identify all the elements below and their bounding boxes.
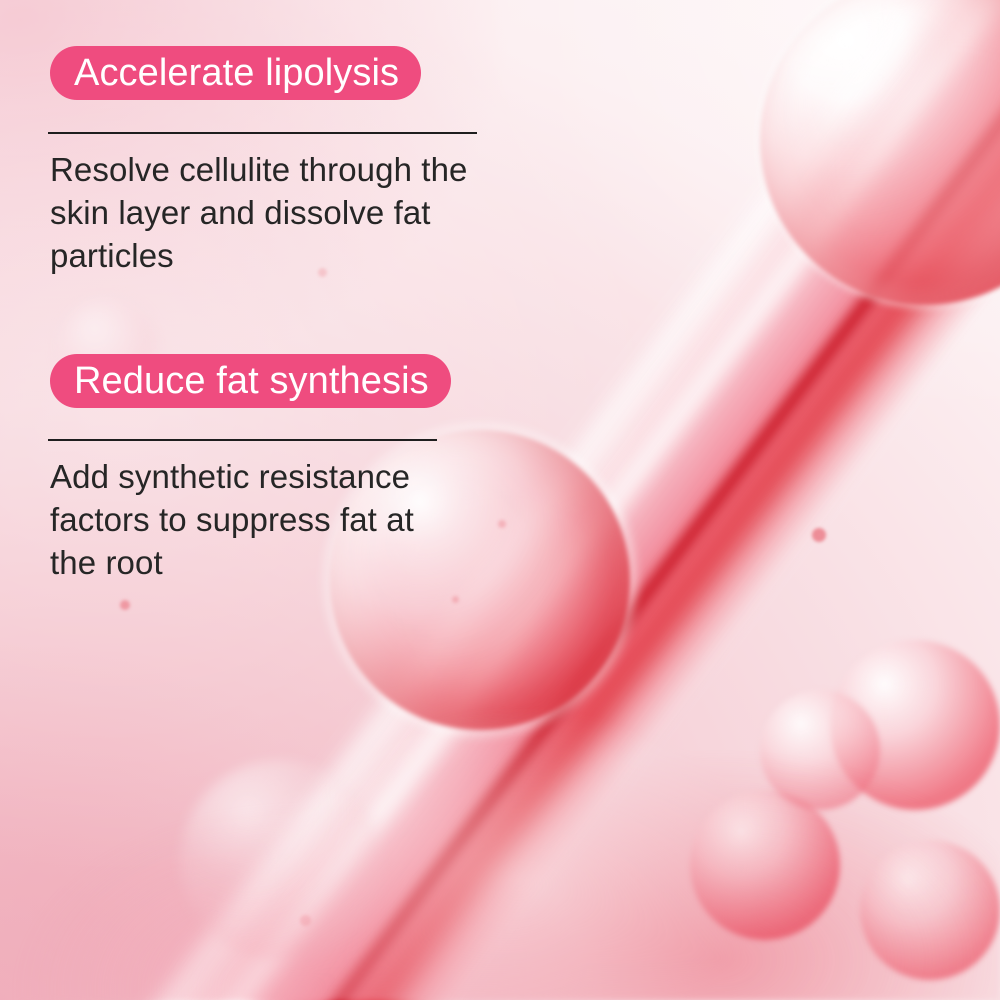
description-line: skin layer and dissolve fat [50, 191, 520, 234]
description-line: particles [50, 234, 520, 277]
feature-block-accelerate-lipolysis: Accelerate lipolysis Resolve cellulite t… [0, 46, 1000, 310]
description-line: the root [50, 541, 520, 584]
feature-description-reduce-fat-synthesis: Add synthetic resistance factors to supp… [50, 455, 520, 584]
feature-description-accelerate-lipolysis: Resolve cellulite through the skin layer… [50, 148, 520, 277]
description-line: Add synthetic resistance [50, 455, 520, 498]
feature-divider [48, 439, 437, 441]
description-line: Resolve cellulite through the [50, 148, 520, 191]
feature-badge-accelerate-lipolysis: Accelerate lipolysis [50, 46, 421, 100]
description-line: factors to suppress fat at [50, 498, 520, 541]
feature-badge-reduce-fat-synthesis: Reduce fat synthesis [50, 354, 451, 408]
content-overlay: Accelerate lipolysis Resolve cellulite t… [0, 0, 1000, 1000]
feature-divider [48, 132, 477, 134]
infographic-canvas: Accelerate lipolysis Resolve cellulite t… [0, 0, 1000, 1000]
feature-block-reduce-fat-synthesis: Reduce fat synthesis Add synthetic resis… [0, 354, 1000, 617]
